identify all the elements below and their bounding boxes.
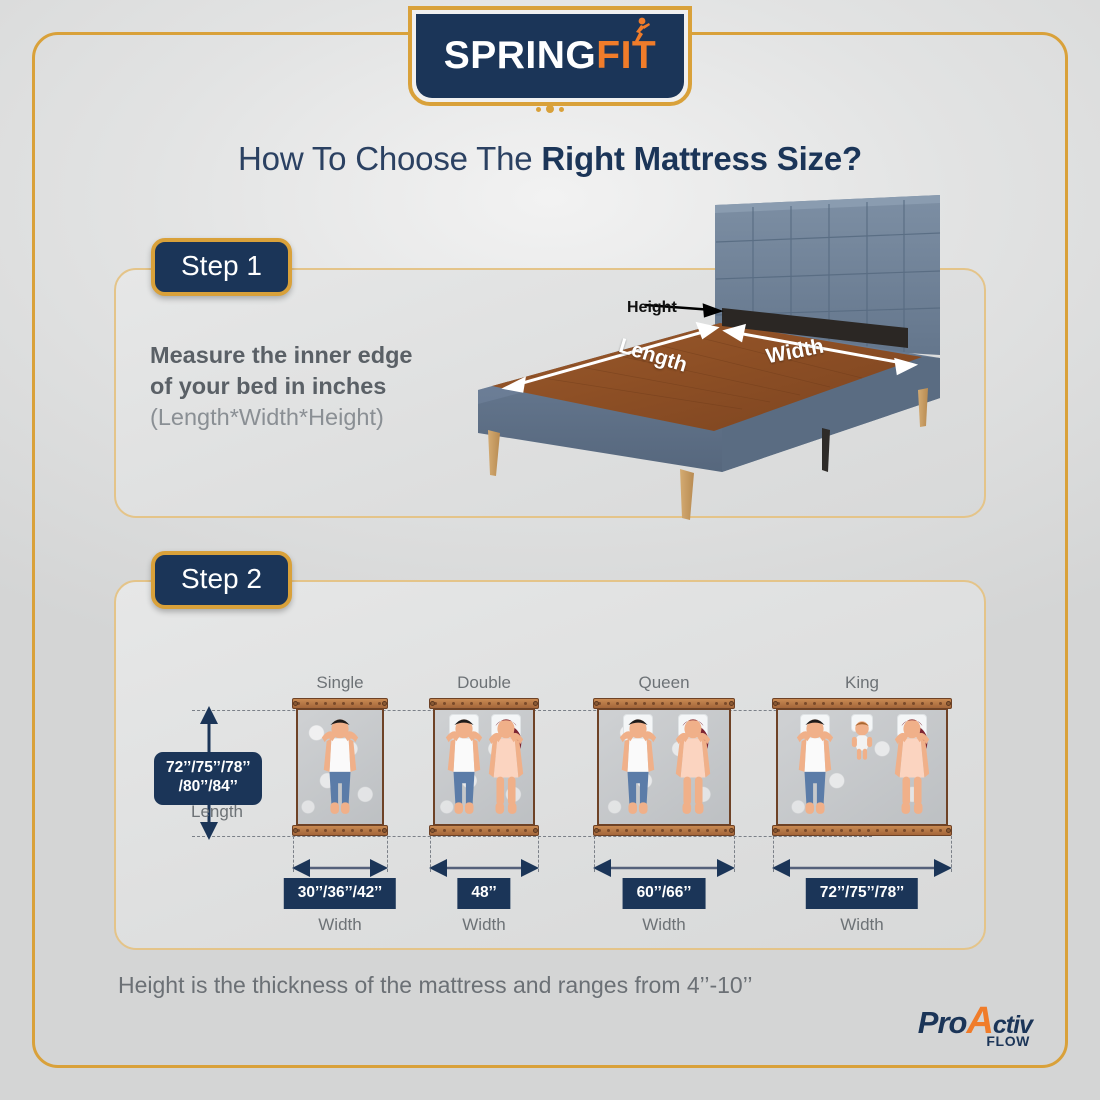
mattress-surface [433,708,535,826]
size-label-king: King [845,673,879,693]
sleeper-man [319,716,361,825]
mattress-rail-bottom [593,825,735,836]
mattress-surface [597,708,731,826]
length-caption: Length [162,802,272,822]
width-arrow-king [772,858,952,878]
sleeper-woman [485,716,527,825]
sleeper-man [794,716,836,825]
footer-note: Height is the thickness of the mattress … [118,972,753,999]
width-caption-king: Width [840,915,883,935]
mattress-double [429,698,539,836]
mattress-single [292,698,388,836]
proactiv-pro: Pro [918,1005,967,1040]
mattress-surface [776,708,948,826]
mattress-rail-bottom [292,825,388,836]
width-caption-double: Width [462,915,505,935]
width-value-double: 48’’ [457,878,510,909]
width-caption-single: Width [318,915,361,935]
brand-logo-text: SPRING FIT [444,34,657,78]
width-arrow-double [429,858,539,878]
width-value-single: 30’’/36’’/42’’ [284,878,396,909]
bed-svg [470,190,970,530]
size-label-queen: Queen [638,673,689,693]
width-arrow-queen [593,858,735,878]
infographic-poster: SPRING FIT How To Choose The Right Mattr… [0,0,1100,1100]
length-value-badge: 72’’/75’’/78’’ /80’’/84’’ [154,752,262,805]
mattress-rail-bottom [772,825,952,836]
proactiv-logo: ProActiv FLOW [918,1004,1032,1048]
logo-decorative-dots [536,105,564,113]
length-guide-bottom [192,836,872,837]
logo-spring-text: SPRING [444,34,597,78]
mattress-size-comparison: 72’’/75’’/78’’ /80’’/84’’ Length Single … [114,580,986,950]
brand-logo-badge: SPRING FIT [408,6,692,106]
size-label-single: Single [316,673,363,693]
mattress-king [772,698,952,836]
page-title-bold: Right Mattress Size? [541,140,862,177]
mattress-queen [593,698,735,836]
step-2-badge: Step 2 [151,551,292,609]
page-title-regular: How To Choose The [238,140,541,177]
page-title: How To Choose The Right Mattress Size? [0,140,1100,178]
step-1-line-1: Measure the inner edge [150,340,480,371]
bed-illustration [470,190,970,530]
width-caption-queen: Width [642,915,685,935]
size-label-double: Double [457,673,511,693]
sleeper-woman [891,716,933,825]
width-value-king: 72’’/75’’/78’’ [806,878,918,909]
length-value-line-2: /80’’/84’’ [166,778,250,797]
step-1-instruction: Measure the inner edge of your bed in in… [150,340,480,433]
sleeper-baby [849,720,875,769]
step-1-line-2: of your bed in inches [150,371,480,402]
step-1-line-3: (Length*Width*Height) [150,402,480,433]
logo-fit-text: FIT [596,34,656,78]
sleeper-man [617,716,659,825]
bed-height-arrow [645,305,720,316]
sleeper-man [443,716,485,825]
brand-logo-inner: SPRING FIT [416,14,684,98]
sleeper-woman [672,716,714,825]
mattress-surface [296,708,384,826]
length-value-line-1: 72’’/75’’/78’’ [166,759,250,778]
mattress-rail-bottom [429,825,539,836]
width-value-queen: 60’’/66’’ [623,878,706,909]
runner-icon [630,17,650,47]
step-1-badge: Step 1 [151,238,292,296]
width-arrow-single [292,858,388,878]
